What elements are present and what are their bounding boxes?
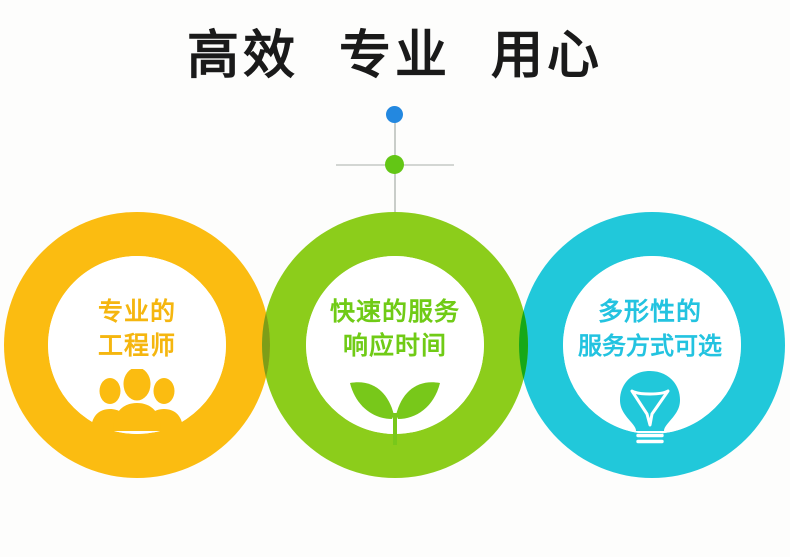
circle-content-green: 快速的服务 响应时间 xyxy=(275,295,515,450)
people-group-icon xyxy=(17,369,257,436)
orange-text-line-1: 专业的 xyxy=(17,295,257,329)
infographic-canvas: 高效专业用心 专业的 工程师 xyxy=(0,0,790,557)
lightbulb-icon xyxy=(530,369,770,450)
title-segment-1: 高效 xyxy=(187,28,299,85)
green-text-line-2: 响应时间 xyxy=(275,329,515,363)
green-node-dot xyxy=(385,155,404,174)
circle-content-orange: 专业的 工程师 xyxy=(17,295,257,436)
page-title: 高效专业用心 xyxy=(0,28,790,85)
sprout-leaf-icon xyxy=(275,369,515,450)
title-segment-2: 专业 xyxy=(339,28,451,85)
green-text-line-1: 快速的服务 xyxy=(275,295,515,329)
blue-node-dot xyxy=(386,106,403,123)
cyan-text-line-1: 多形性的 xyxy=(530,295,770,329)
title-segment-3: 用心 xyxy=(491,28,603,85)
circle-content-cyan: 多形性的 服务方式可选 xyxy=(530,295,770,450)
cyan-text-line-2: 服务方式可选 xyxy=(530,329,770,363)
orange-text-line-2: 工程师 xyxy=(17,329,257,363)
